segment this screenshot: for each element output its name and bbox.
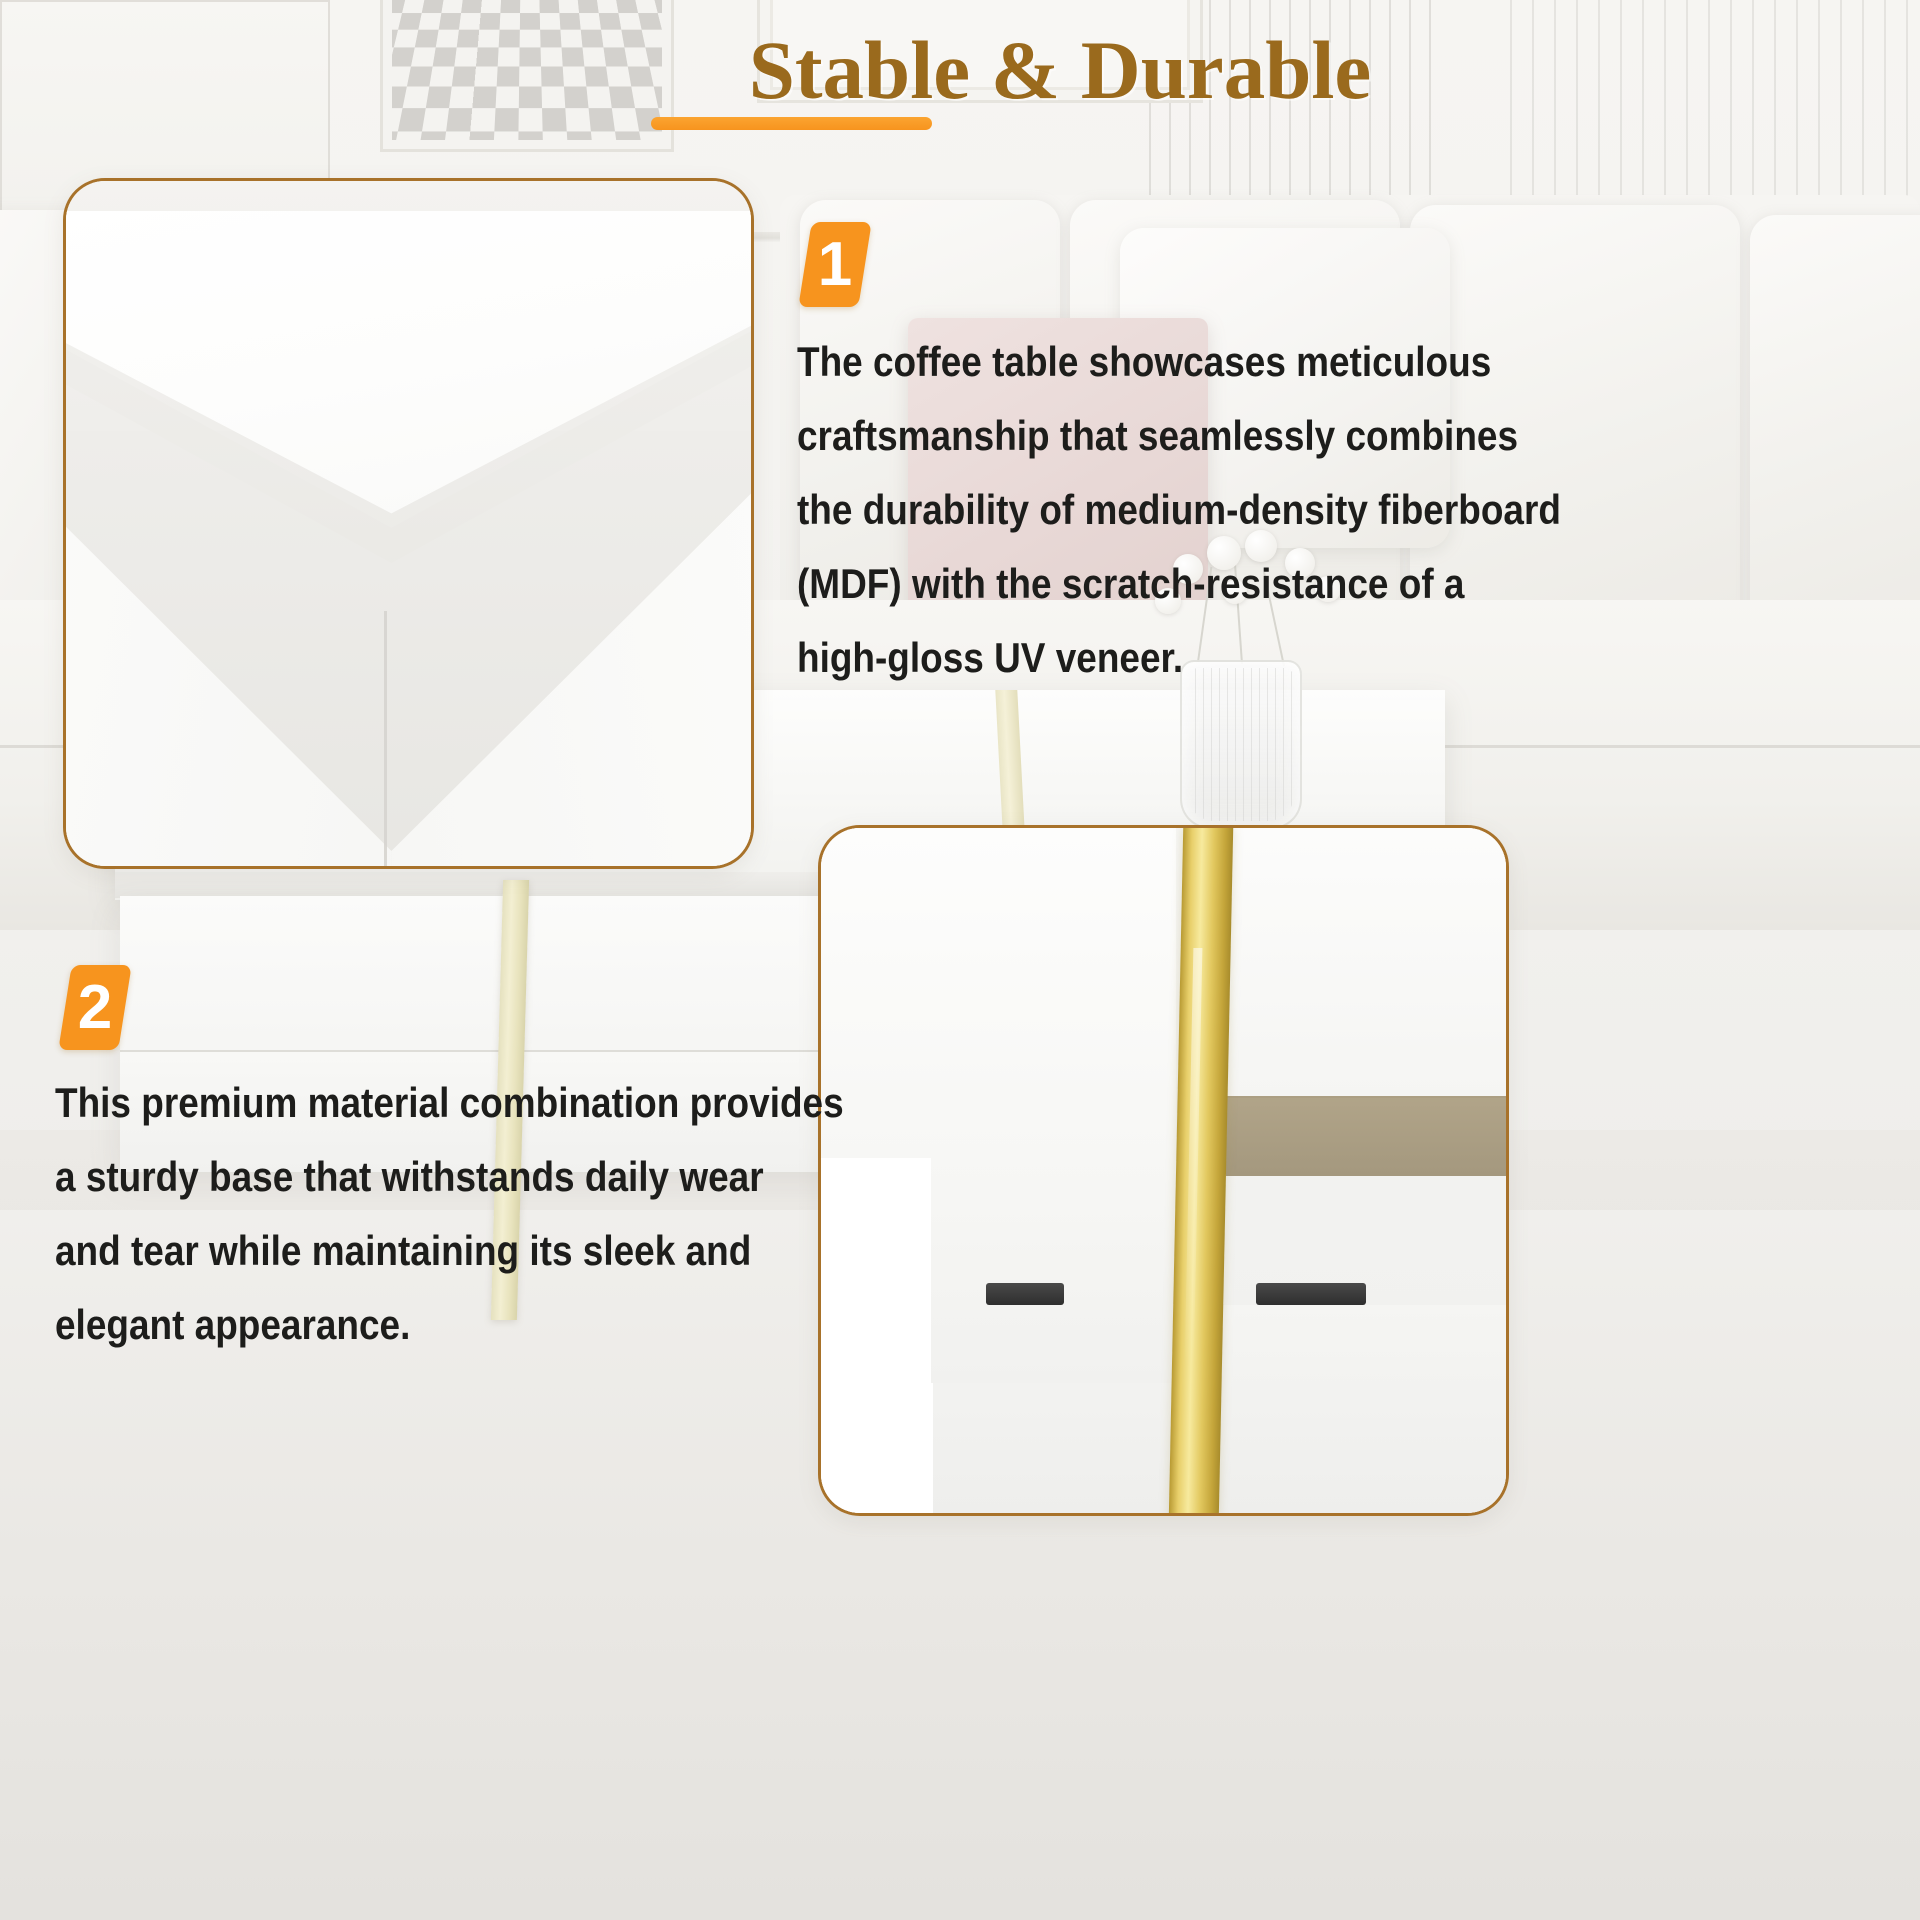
feature-badge-2-number: 2 (65, 965, 125, 1050)
feature-2-line: elegant appearance. (55, 1288, 844, 1362)
inset-br-under-shadow (1226, 1096, 1509, 1176)
feature-2-line: and tear while maintaining its sleek and (55, 1214, 844, 1288)
sofa-cushion (1750, 215, 1920, 645)
feature-badge-1: 1 (798, 222, 871, 307)
inset-br-table-foot (1256, 1283, 1366, 1305)
feature-1-line: the durability of medium-density fiberbo… (797, 473, 1561, 547)
feature-1-line: high-gloss UV veneer. (797, 621, 1561, 695)
feature-1-line: The coffee table showcases meticulous (797, 325, 1561, 399)
feature-1-line: (MDF) with the scratch-resistance of a (797, 547, 1561, 621)
feature-badge-2: 2 (58, 965, 131, 1050)
inset-photo-table-leg[interactable] (818, 825, 1509, 1516)
feature-2-text: This premium material combination provid… (55, 1066, 844, 1362)
feature-badge-1-number: 1 (805, 222, 865, 307)
infographic-canvas: Stable & Durable 1 The coffee table show… (0, 0, 1920, 1920)
inset-br-lower-panel (931, 1158, 1181, 1383)
feature-1-line: craftsmanship that seamlessly combines (797, 399, 1561, 473)
inset-br-table-foot (986, 1283, 1064, 1305)
feature-2-line: a sturdy base that withstands daily wear (55, 1140, 844, 1214)
page-title: Stable & Durable (500, 22, 1620, 118)
title-underline-bar (651, 117, 932, 130)
inset-br-table-panel-right (1226, 828, 1509, 1098)
inset-photo-table-corner[interactable] (63, 178, 754, 869)
feature-2-line: This premium material combination provid… (55, 1066, 844, 1140)
feature-1-text: The coffee table showcases meticulous cr… (797, 325, 1561, 695)
inset-tl-corner-seam (384, 611, 387, 869)
inset-br-table-panel-left (821, 828, 1176, 1158)
